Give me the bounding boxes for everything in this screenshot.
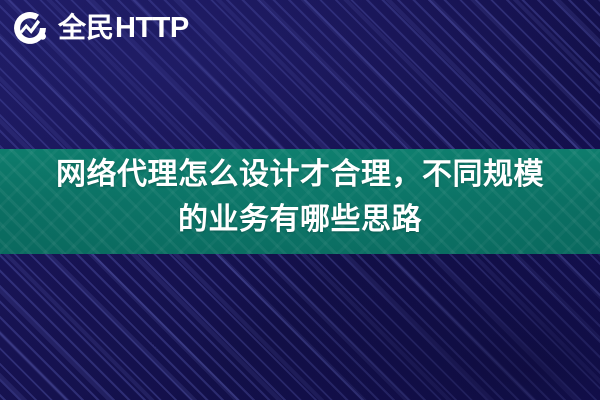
brand-name-en: HTTP [115, 14, 189, 43]
brand-logo: 全民 HTTP [9, 6, 189, 50]
banner-title-line-2: 的业务有哪些思路 [12, 197, 588, 242]
banner-title-line-1: 网络代理怎么设计才合理，不同规模 [12, 152, 588, 197]
brand-name-cn: 全民 [58, 14, 114, 42]
banner-image: 全民 HTTP 网络代理怎么设计才合理，不同规模 的业务有哪些思路 [0, 0, 600, 400]
brand-wordmark: 全民 HTTP [58, 14, 189, 43]
banner-title: 网络代理怎么设计才合理，不同规模 的业务有哪些思路 [0, 152, 600, 242]
circle-wave-mark-icon [9, 7, 51, 49]
